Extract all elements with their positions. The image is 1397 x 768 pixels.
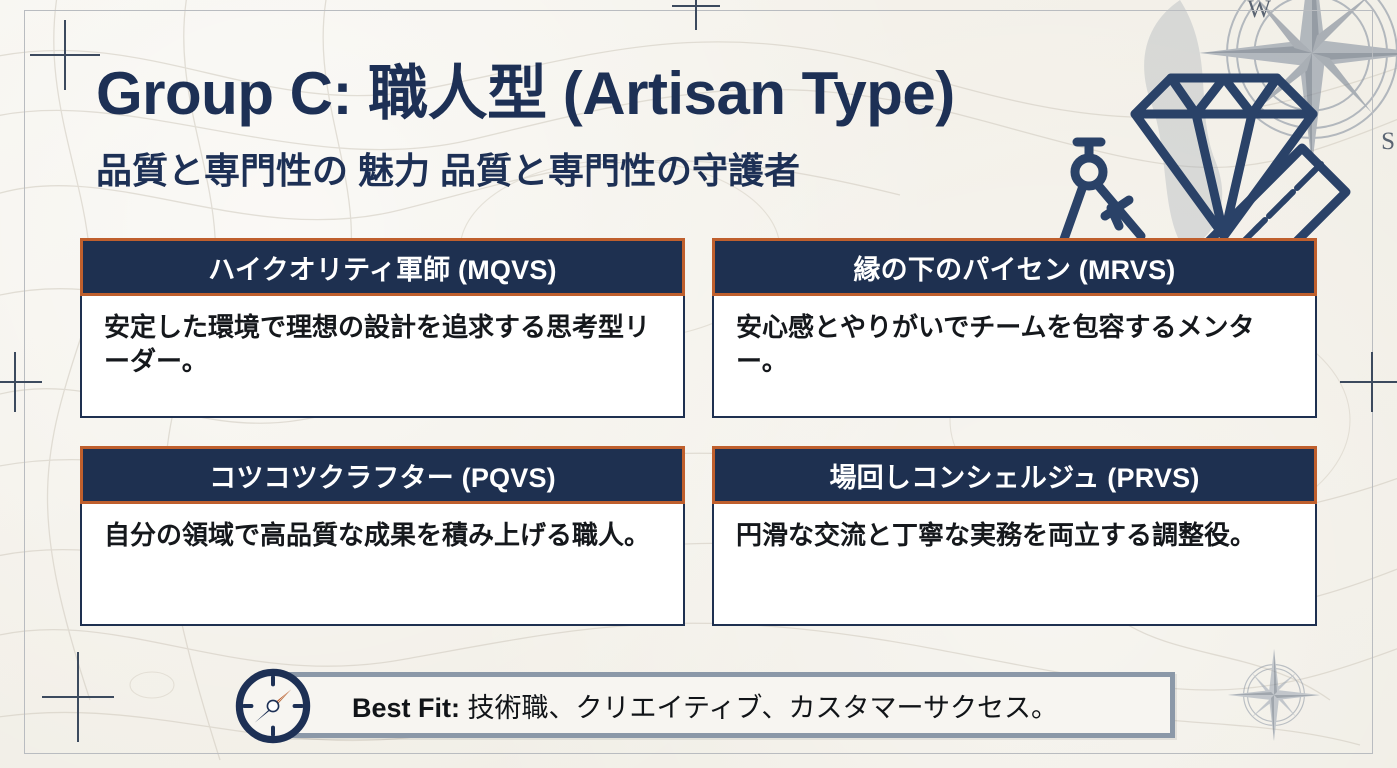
type-card[interactable]: 場回しコンシェルジュ (PRVS) 円滑な交流と丁寧な実務を両立する調整役。 [712,446,1317,626]
crosshair-mark-top-center [672,0,720,30]
best-fit-bar: Best Fit: 技術職、クリエイティブ、カスタマーサクセス。 [287,672,1175,738]
best-fit-footer: Best Fit: 技術職、クリエイティブ、カスタマーサクセス。 [233,660,1175,748]
crosshair-mark-left-middle [0,352,42,412]
page-title: Group C: 職人型 (Artisan Type) [96,62,955,125]
type-cards-grid: ハイクオリティ軍師 (MQVS) 安定した環境で理想の設計を追求する思考型リーダ… [80,238,1317,626]
best-fit-value: 技術職、クリエイティブ、カスタマーサクセス。 [468,693,1059,723]
best-fit-label: Best Fit: [352,693,460,723]
type-card[interactable]: ハイクオリティ軍師 (MQVS) 安定した環境で理想の設計を追求する思考型リーダ… [80,238,685,418]
type-card-body: 安定した環境で理想の設計を追求する思考型リーダー。 [80,296,685,418]
crosshair-mark-bottom-left [42,652,114,742]
type-card-header: 場回しコンシェルジュ (PRVS) [712,446,1317,504]
best-fit-value-spacer [460,693,468,723]
compass-rose-watermark-bottom-right [1225,646,1323,744]
crosshair-mark-right-middle [1340,352,1397,412]
type-card-header: 縁の下のパイセン (MRVS) [712,238,1317,296]
type-card-header: ハイクオリティ軍師 (MQVS) [80,238,685,296]
type-card-body: 自分の領域で高品質な成果を積み上げる職人。 [80,504,685,626]
type-card[interactable]: 縁の下のパイセン (MRVS) 安心感とやりがいでチームを包容するメンター。 [712,238,1317,418]
type-card-header: コツコツクラフター (PQVS) [80,446,685,504]
page-subtitle: 品質と専門性の 魅力 品質と専門性の守護者 [96,150,800,191]
compass-label-w: W [1247,0,1271,24]
type-card[interactable]: コツコツクラフター (PQVS) 自分の領域で高品質な成果を積み上げる職人。 [80,446,685,626]
slide-canvas: W S Grou [0,0,1397,768]
type-card-body: 円滑な交流と丁寧な実務を両立する調整役。 [712,504,1317,626]
best-fit-text: Best Fit: 技術職、クリエイティブ、カスタマーサクセス。 [352,686,1058,725]
diamond-gem-with-tools-icon [1059,30,1389,260]
type-card-body: 安心感とやりがいでチームを包容するメンター。 [712,296,1317,418]
crosshair-mark-top-left [30,20,100,90]
compass-icon [233,666,313,746]
